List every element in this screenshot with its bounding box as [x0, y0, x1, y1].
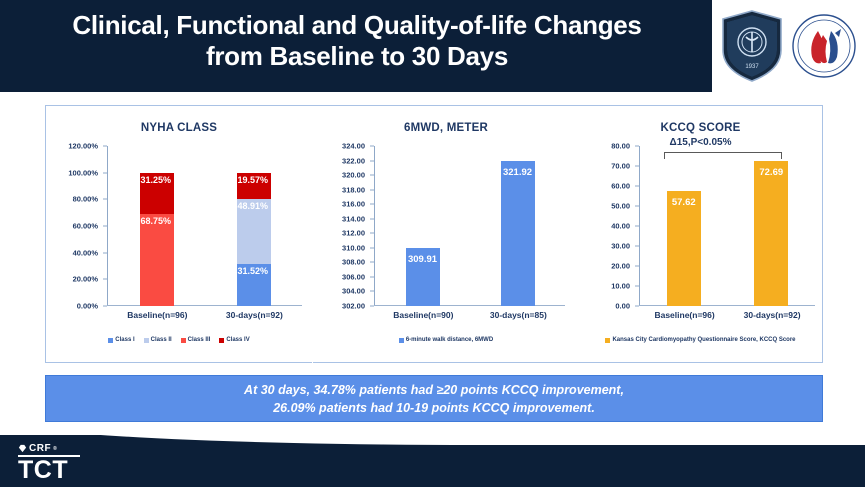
callout-line-1: At 30 days, 34.78% patients had ≥20 poin…	[244, 381, 624, 399]
chart-title-6mwd: 6MWD, METER	[313, 122, 579, 134]
bar-segment[interactable]: 321.92	[501, 161, 535, 306]
bar-value-label: 48.91%	[238, 201, 269, 211]
fuwai-hospital-shield-logo-icon: 1937	[721, 10, 783, 82]
y-tick-mark	[370, 262, 374, 263]
tct-crf-logo: CRF ® TCT	[18, 443, 80, 483]
plot-area-6mwd: 302.00304.00306.00308.00310.00312.00314.…	[313, 146, 579, 306]
y-tick-label: 40.00	[611, 222, 630, 231]
y-tick-label: 10.00	[611, 282, 630, 291]
x-axis-category-label: 30-days(n=92)	[226, 310, 283, 320]
y-axis-6mwd: 302.00304.00306.00308.00310.00312.00314.…	[313, 146, 369, 306]
header-logos: 1937	[712, 0, 865, 92]
bar-value-label: 19.57%	[238, 175, 269, 185]
y-tick-label: 20.00	[611, 262, 630, 271]
svg-text:1937: 1937	[745, 64, 759, 70]
y-axis-nyha: 0.00%20.00%40.00%60.00%80.00%100.00%120.…	[46, 146, 102, 306]
y-tick-label: 20.00%	[73, 275, 98, 284]
x-axis-category-label: 30-days(n=85)	[490, 310, 547, 320]
y-tick-label: 50.00	[611, 202, 630, 211]
y-tick-mark	[635, 166, 639, 167]
chart-6mwd: 6MWD, METER 302.00304.00306.00308.00310.…	[312, 106, 579, 364]
bar-value-label: 321.92	[503, 167, 532, 178]
chart-title-nyha: NYHA CLASS	[46, 122, 312, 134]
legend-label: 6-minute walk distance, 6MWD	[406, 337, 493, 343]
legend-color-swatch	[605, 338, 610, 343]
y-tick-label: 320.00	[342, 171, 365, 180]
legend-label: Class III	[188, 337, 211, 343]
y-tick-label: 80.00	[611, 142, 630, 151]
header-bar: Clinical, Functional and Quality-of-life…	[0, 0, 712, 92]
legend-item[interactable]: Class II	[144, 337, 172, 343]
y-tick-mark	[103, 279, 107, 280]
tct-label: TCT	[18, 457, 80, 483]
legend-label: Kansas City Cardiomyopathy Questionnaire…	[612, 337, 795, 343]
y-tick-mark	[635, 286, 639, 287]
page-title-line-1: Clinical, Functional and Quality-of-life…	[12, 10, 702, 41]
bar-column[interactable]: 19.57%48.91%31.52%	[237, 146, 271, 306]
legend-color-swatch	[144, 338, 149, 343]
footer-bar: CRF ® TCT	[0, 435, 865, 487]
y-tick-label: 322.00	[342, 156, 365, 165]
bar-value-label: 72.69	[759, 167, 783, 178]
footer-swoosh-decoration	[0, 435, 865, 445]
national-center-cardiovascular-logo-icon	[791, 13, 857, 79]
x-axis-category-label: Baseline(n=96)	[127, 310, 187, 320]
bars-nyha: 31.25%68.75%19.57%48.91%31.52%	[108, 146, 302, 306]
bar-segment[interactable]: 31.25%	[140, 173, 174, 215]
y-tick-label: 80.00%	[73, 195, 98, 204]
crf-label: CRF	[29, 443, 51, 454]
y-tick-mark	[103, 226, 107, 227]
legend-item[interactable]: Kansas City Cardiomyopathy Questionnaire…	[605, 337, 795, 343]
crf-row: CRF ®	[18, 443, 80, 454]
y-tick-mark	[370, 306, 374, 307]
y-tick-mark	[370, 276, 374, 277]
plot-area-nyha: 0.00%20.00%40.00%60.00%80.00%100.00%120.…	[46, 146, 312, 306]
page-title: Clinical, Functional and Quality-of-life…	[12, 10, 702, 72]
y-axis-kccq: 0.0010.0020.0030.0040.0050.0060.0070.008…	[578, 146, 634, 306]
chart-nyha-class: NYHA CLASS 0.00%20.00%40.00%60.00%80.00%…	[46, 106, 312, 364]
bar-column[interactable]: 57.62	[667, 146, 701, 306]
y-tick-mark	[103, 199, 107, 200]
legend-item[interactable]: Class IV	[219, 337, 249, 343]
y-tick-mark	[370, 160, 374, 161]
y-tick-mark	[103, 306, 107, 307]
bar-segment[interactable]: 19.57%	[237, 173, 271, 199]
x-labels-6mwd: Baseline(n=90)30-days(n=85)	[375, 310, 565, 320]
y-tick-label: 318.00	[342, 185, 365, 194]
plot-area-kccq: 0.0010.0020.0030.0040.0050.0060.0070.008…	[578, 146, 823, 306]
page-title-line-2: from Baseline to 30 Days	[12, 41, 702, 72]
legend-nyha: Class IClass IIClass IIIClass IV	[46, 337, 312, 343]
bars-6mwd: 309.91321.92	[375, 146, 565, 306]
callout-line-2: 26.09% patients had 10-19 points KCCQ im…	[273, 399, 595, 417]
legend-color-swatch	[108, 338, 113, 343]
legend-label: Class I	[115, 337, 134, 343]
legend-item[interactable]: Class I	[108, 337, 134, 343]
legend-color-swatch	[399, 338, 404, 343]
bar-column[interactable]: 309.91	[406, 146, 440, 306]
y-tick-mark	[635, 266, 639, 267]
y-tick-label: 60.00	[611, 182, 630, 191]
bar-value-label: 31.52%	[238, 266, 269, 276]
legend-color-swatch	[181, 338, 186, 343]
x-axis-category-label: Baseline(n=96)	[654, 310, 714, 320]
y-tick-mark	[635, 146, 639, 147]
y-tick-label: 314.00	[342, 214, 365, 223]
y-tick-label: 60.00%	[73, 222, 98, 231]
legend-6mwd: 6-minute walk distance, 6MWD	[313, 337, 579, 343]
legend-item[interactable]: Class III	[181, 337, 211, 343]
legend-color-swatch	[219, 338, 224, 343]
y-tick-label: 0.00%	[77, 302, 98, 311]
y-tick-mark	[370, 291, 374, 292]
y-tick-mark	[370, 175, 374, 176]
bar-segment[interactable]: 309.91	[406, 248, 440, 306]
y-tick-label: 30.00	[611, 242, 630, 251]
x-labels-kccq: Baseline(n=96)30-days(n=92)	[640, 310, 815, 320]
bar-value-label: 68.75%	[141, 216, 172, 226]
bar-column[interactable]: 31.25%68.75%	[140, 146, 174, 306]
summary-callout: At 30 days, 34.78% patients had ≥20 poin…	[45, 375, 823, 422]
bar-column[interactable]: 72.69	[754, 146, 788, 306]
legend-kccq: Kansas City Cardiomyopathy Questionnaire…	[578, 337, 823, 343]
y-tick-mark	[635, 206, 639, 207]
y-tick-mark	[103, 172, 107, 173]
legend-label: Class II	[151, 337, 172, 343]
y-tick-mark	[103, 252, 107, 253]
y-tick-label: 302.00	[342, 302, 365, 311]
y-tick-mark	[370, 146, 374, 147]
y-tick-mark	[370, 218, 374, 219]
bar-segment[interactable]: 68.75%	[140, 214, 174, 306]
y-tick-label: 312.00	[342, 229, 365, 238]
bar-segment[interactable]: 72.69	[754, 161, 788, 306]
bar-column[interactable]: 321.92	[501, 146, 535, 306]
y-tick-mark	[103, 146, 107, 147]
bar-value-label: 309.91	[408, 254, 437, 265]
charts-panel: NYHA CLASS 0.00%20.00%40.00%60.00%80.00%…	[45, 105, 823, 363]
y-tick-label: 308.00	[342, 258, 365, 267]
chart-title-kccq: KCCQ SCORE	[578, 122, 823, 134]
chart-kccq-score: KCCQ SCORE Δ15,P<0.05% 0.0010.0020.0030.…	[578, 106, 823, 364]
y-tick-mark	[635, 246, 639, 247]
crf-diamond-icon	[18, 444, 27, 453]
y-tick-mark	[635, 186, 639, 187]
y-tick-mark	[635, 306, 639, 307]
x-axis-category-label: 30-days(n=92)	[744, 310, 801, 320]
y-tick-label: 324.00	[342, 142, 365, 151]
y-tick-label: 70.00	[611, 162, 630, 171]
y-tick-label: 316.00	[342, 200, 365, 209]
y-tick-mark	[370, 189, 374, 190]
y-tick-mark	[635, 226, 639, 227]
y-tick-label: 100.00%	[68, 168, 98, 177]
x-axis-category-label: Baseline(n=90)	[393, 310, 453, 320]
bar-value-label: 57.62	[672, 197, 696, 208]
y-tick-label: 304.00	[342, 287, 365, 296]
bar-segment[interactable]: 57.62	[667, 191, 701, 306]
bar-segment[interactable]: 48.91%	[237, 199, 271, 264]
bar-segment[interactable]: 31.52%	[237, 264, 271, 306]
y-tick-label: 310.00	[342, 243, 365, 252]
legend-item[interactable]: 6-minute walk distance, 6MWD	[399, 337, 493, 343]
y-tick-label: 0.00	[615, 302, 630, 311]
y-tick-label: 120.00%	[68, 142, 98, 151]
bar-value-label: 31.25%	[141, 175, 172, 185]
crf-trademark: ®	[53, 446, 57, 452]
y-tick-mark	[370, 247, 374, 248]
legend-label: Class IV	[226, 337, 249, 343]
y-tick-mark	[370, 204, 374, 205]
y-tick-mark	[370, 233, 374, 234]
y-tick-label: 306.00	[342, 272, 365, 281]
x-labels-nyha: Baseline(n=96)30-days(n=92)	[108, 310, 302, 320]
y-tick-label: 40.00%	[73, 248, 98, 257]
bars-kccq: 57.6272.69	[640, 146, 815, 306]
